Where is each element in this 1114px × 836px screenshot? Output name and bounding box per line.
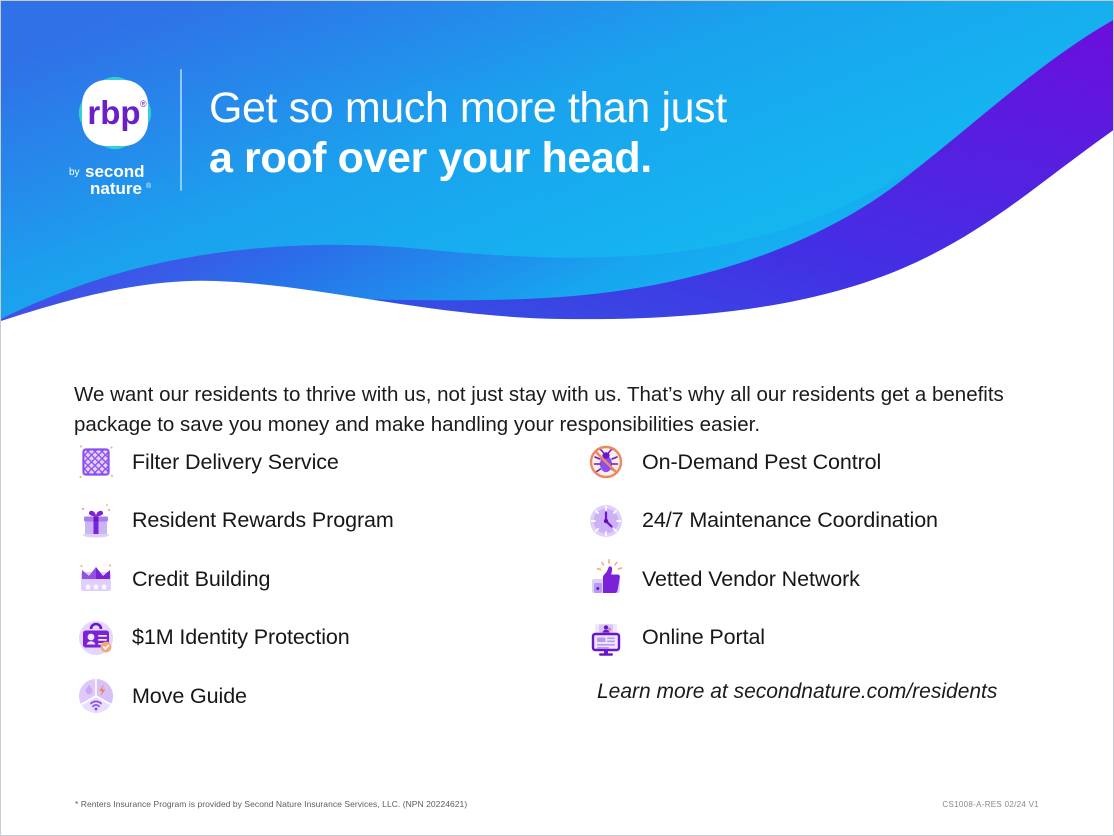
benefit-label: 24/7 Maintenance Coordination xyxy=(642,508,938,533)
learn-more-link[interactable]: Learn more at secondnature.com/residents xyxy=(597,680,997,704)
benefit-filter-delivery-service: Filter Delivery Service xyxy=(74,433,584,492)
footer-disclaimer: * Renters Insurance Program is provided … xyxy=(75,799,467,809)
hero-headline: Get so much more than just a roof over y… xyxy=(209,83,727,183)
no-pest-icon xyxy=(584,440,628,484)
rbp-logo: rbp ® by second nature ® xyxy=(67,71,163,204)
benefit-label: Online Portal xyxy=(642,625,765,650)
benefit-label: Credit Building xyxy=(132,567,270,592)
benefit-vetted-vendor-network: Vetted Vendor Network xyxy=(584,550,1044,609)
svg-text:nature: nature xyxy=(90,179,142,198)
benefit-on-demand-pest-control: On-Demand Pest Control xyxy=(584,433,1044,492)
id-badge-shield-icon xyxy=(74,616,118,660)
benefits-column-left: Filter Delivery Service xyxy=(74,433,584,726)
benefit-online-portal: Online Portal xyxy=(584,609,1044,668)
benefit-resident-rewards-program: Resident Rewards Program xyxy=(74,492,584,551)
header-divider xyxy=(180,69,182,191)
benefit-identity-protection: $1M Identity Protection xyxy=(74,609,584,668)
headline-line-1: Get so much more than just xyxy=(209,83,727,133)
crown-stars-icon xyxy=(74,557,118,601)
benefit-credit-building: Credit Building xyxy=(74,550,584,609)
svg-text:by: by xyxy=(69,167,80,178)
rbp-logo-mark: rbp ® xyxy=(73,71,157,155)
benefit-label: On-Demand Pest Control xyxy=(642,450,881,475)
footer-doc-code: CS1008-A-RES 02/24 V1 xyxy=(942,800,1039,809)
benefit-maintenance-coordination: 24/7 Maintenance Coordination xyxy=(584,492,1044,551)
rbp-badge-icon: rbp ® xyxy=(73,71,157,155)
headline-line-2: a roof over your head. xyxy=(209,133,727,183)
benefit-label: Filter Delivery Service xyxy=(132,450,339,475)
thumbs-up-icon xyxy=(584,557,628,601)
second-nature-wordmark: by second nature ® xyxy=(65,162,165,204)
rbp-logo-byline: by second nature ® xyxy=(65,162,165,204)
clock-icon xyxy=(584,499,628,543)
utilities-circle-icon xyxy=(74,674,118,718)
svg-text:®: ® xyxy=(140,99,147,109)
filter-mesh-icon xyxy=(74,440,118,484)
benefit-label: Vetted Vendor Network xyxy=(642,567,860,592)
intro-paragraph: We want our residents to thrive with us,… xyxy=(74,380,1014,440)
benefit-label: Resident Rewards Program xyxy=(132,508,394,533)
flyer-page: rbp ® by second nature ® Get so mu xyxy=(0,0,1114,836)
svg-text:rbp: rbp xyxy=(87,94,140,131)
benefit-label: Move Guide xyxy=(132,684,247,709)
hero-banner: rbp ® by second nature ® Get so mu xyxy=(1,1,1114,321)
gift-box-icon xyxy=(74,499,118,543)
svg-text:®: ® xyxy=(146,182,152,190)
benefit-move-guide: Move Guide xyxy=(74,667,584,726)
monitor-portal-icon xyxy=(584,616,628,660)
benefit-label: $1M Identity Protection xyxy=(132,625,350,650)
